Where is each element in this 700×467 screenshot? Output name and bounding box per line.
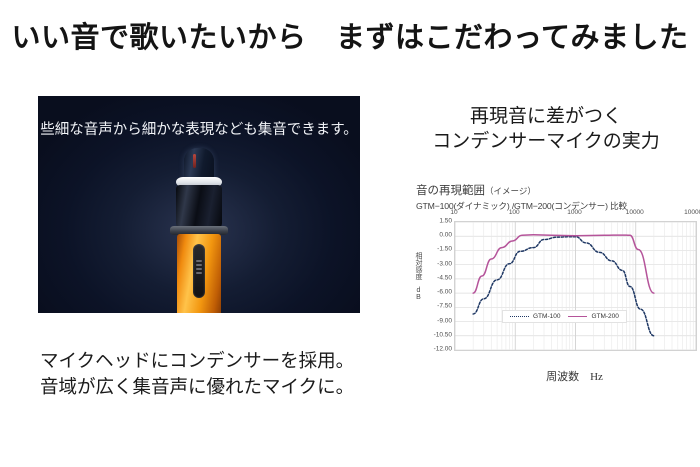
left-description: マイクヘッドにコンデンサーを採用。 音域が広く集音声に優れたマイクに。 [40, 350, 380, 401]
product-photo: 些細な音声から細かな表現なども集音できます。 [38, 96, 360, 313]
mic-capsule [176, 185, 222, 229]
microphone-icon [160, 148, 238, 313]
chart-y-tick: 0.00 [418, 232, 452, 239]
frequency-response-chart: 音の再現範囲（イメージ） GTM−100(ダイナミック) /GTM−200(コン… [416, 182, 696, 382]
legend-swatch-dashed-icon [510, 316, 529, 317]
legend-item-0: GTM-100 [510, 313, 560, 320]
chart-y-tick: -4.50 [418, 274, 452, 281]
chart-plot-area: 相対感度 dB 1.500.00-1.50-3.00-4.50-6.00-7.5… [416, 218, 696, 368]
chart-y-tick: -1.50 [418, 246, 452, 253]
mic-handle [177, 234, 221, 313]
chart-x-tick: 100 [509, 209, 520, 216]
page-title: いい音で歌いたいから まずはこだわってみました [0, 14, 700, 56]
right-heading: 再現音に差がつく コンデンサーマイクの実力 [396, 104, 696, 155]
right-heading-line2: コンデンサーマイクの実力 [396, 129, 696, 154]
left-description-line1: マイクヘッドにコンデンサーを採用。 [40, 350, 380, 376]
mic-cage [184, 148, 214, 180]
legend-item-1: GTM-200 [568, 313, 618, 320]
chart-grid [454, 221, 697, 351]
chart-x-tick: 10000 [626, 209, 644, 216]
chart-series-gtm-200 [473, 235, 654, 293]
chart-x-axis-ticks: 10100100010000100000 [454, 209, 696, 219]
chart-y-tick: -7.50 [418, 303, 452, 310]
photo-caption: 些細な音声から細かな表現なども集音できます。 [38, 118, 360, 139]
chart-title: 音の再現範囲（イメージ） [416, 182, 696, 198]
legend-label-0: GTM-100 [533, 313, 560, 320]
chart-x-axis-label: 周波数 Hz [454, 368, 695, 384]
chart-y-axis-ticks: 1.500.00-1.50-3.00-4.50-6.00-7.50-9.00-1… [416, 218, 452, 368]
chart-y-tick: -6.00 [418, 289, 452, 296]
chart-y-tick: 1.50 [418, 218, 452, 225]
slide-root: いい音で歌いたいから まずはこだわってみました 些細な音声から細かな表現なども集… [0, 0, 700, 467]
chart-y-tick: -3.00 [418, 260, 452, 267]
legend-label-1: GTM-200 [591, 313, 618, 320]
chart-x-tick: 100000 [684, 209, 700, 216]
chart-y-tick: -10.50 [418, 331, 452, 338]
chart-y-tick: -12.00 [418, 346, 452, 353]
chart-x-tick: 10 [450, 209, 457, 216]
chart-x-tick: 1000 [567, 209, 581, 216]
chart-svg [455, 222, 696, 350]
chart-y-tick: -9.00 [418, 317, 452, 324]
left-description-line2: 音域が広く集音声に優れたマイクに。 [40, 376, 380, 402]
chart-title-main: 音の再現範囲 [416, 185, 485, 197]
chart-legend: GTM-100 GTM-200 [502, 310, 627, 323]
legend-swatch-solid-icon [568, 316, 587, 317]
chart-title-note: （イメージ） [485, 186, 536, 196]
right-heading-line1: 再現音に差がつく [396, 104, 696, 129]
mic-switch [193, 244, 205, 298]
